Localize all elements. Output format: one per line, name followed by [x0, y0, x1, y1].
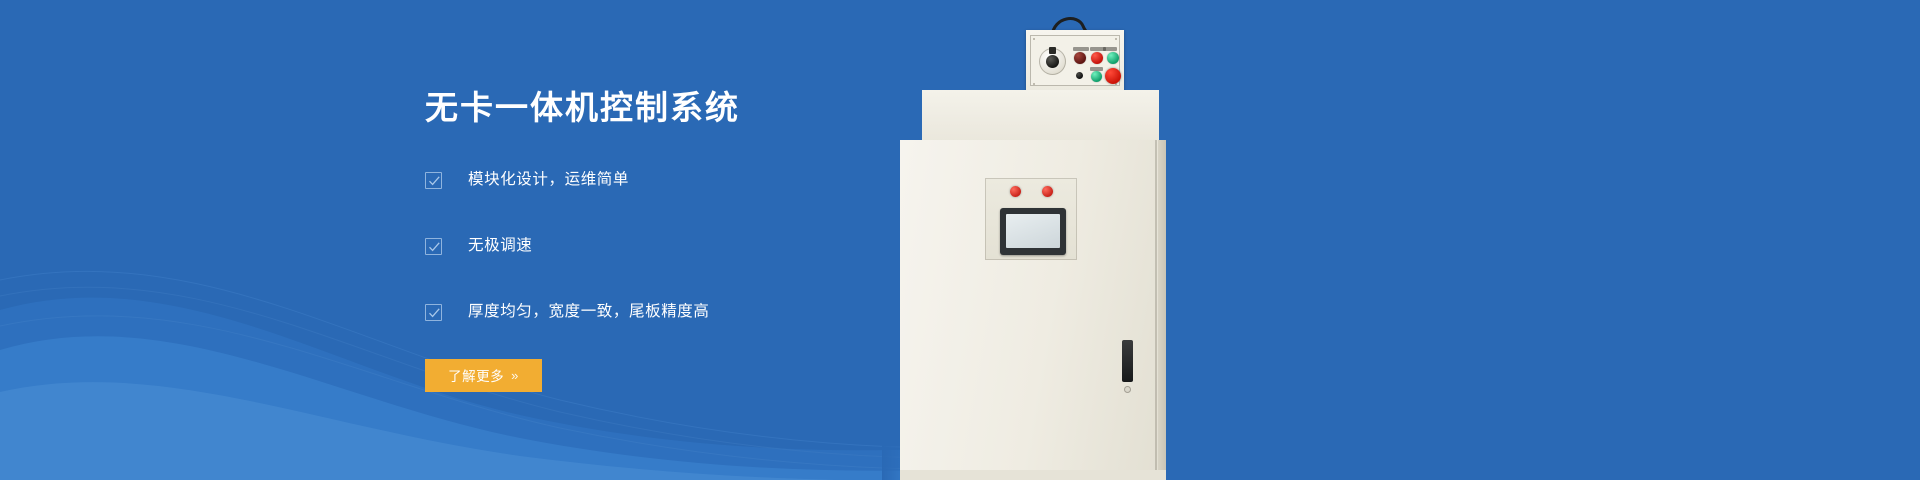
feature-label: 厚度均匀，宽度一致，尾板精度高	[468, 304, 710, 320]
button-label-plate	[1073, 47, 1089, 51]
cabinet-right-edge	[1158, 140, 1166, 480]
selector-knob-center	[1046, 55, 1059, 68]
learn-more-button[interactable]: 了解更多 »	[425, 359, 542, 392]
pilot-light-right[interactable]	[1042, 186, 1053, 197]
feature-label: 模块化设计，运维简单	[468, 172, 629, 188]
touchscreen-panel[interactable]	[1000, 208, 1066, 255]
top-control-box	[1026, 30, 1124, 92]
cabinet-seam	[1155, 140, 1157, 480]
check-glyph	[428, 307, 441, 320]
checkbox-check-icon	[425, 238, 442, 255]
indicator-green[interactable]	[1107, 52, 1119, 64]
rotary-selector-knob[interactable]	[1039, 48, 1066, 75]
cabinet-door-handle[interactable]	[1122, 340, 1133, 382]
cabinet-base	[900, 470, 1166, 480]
screw-icon	[1033, 38, 1035, 40]
screw-icon	[1115, 38, 1117, 40]
indicator-red[interactable]	[1091, 52, 1103, 64]
touchscreen-display	[1006, 214, 1060, 248]
screw-icon	[1033, 83, 1035, 85]
control-cabinet-photo	[900, 0, 1200, 480]
pilot-light-left[interactable]	[1010, 186, 1021, 197]
emergency-stop-red[interactable]	[1105, 68, 1121, 84]
indicator-dark-red[interactable]	[1074, 52, 1086, 64]
check-glyph	[428, 241, 441, 254]
button-black-small[interactable]	[1076, 72, 1083, 79]
cabinet-top-section	[922, 90, 1159, 142]
button-label-plate	[1103, 47, 1117, 51]
checkbox-check-icon	[425, 172, 442, 189]
chevron-right-icon: »	[511, 368, 519, 383]
button-green[interactable]	[1091, 71, 1102, 82]
hero-banner: 无卡一体机控制系统 模块化设计，运维简单 无极调速	[0, 0, 1920, 480]
checkbox-check-icon	[425, 304, 442, 321]
learn-more-label: 了解更多	[448, 365, 504, 385]
cabinet-lock-icon	[1124, 386, 1131, 393]
feature-label: 无极调速	[468, 238, 532, 254]
check-glyph	[428, 175, 441, 188]
selector-pointer	[1049, 47, 1056, 54]
